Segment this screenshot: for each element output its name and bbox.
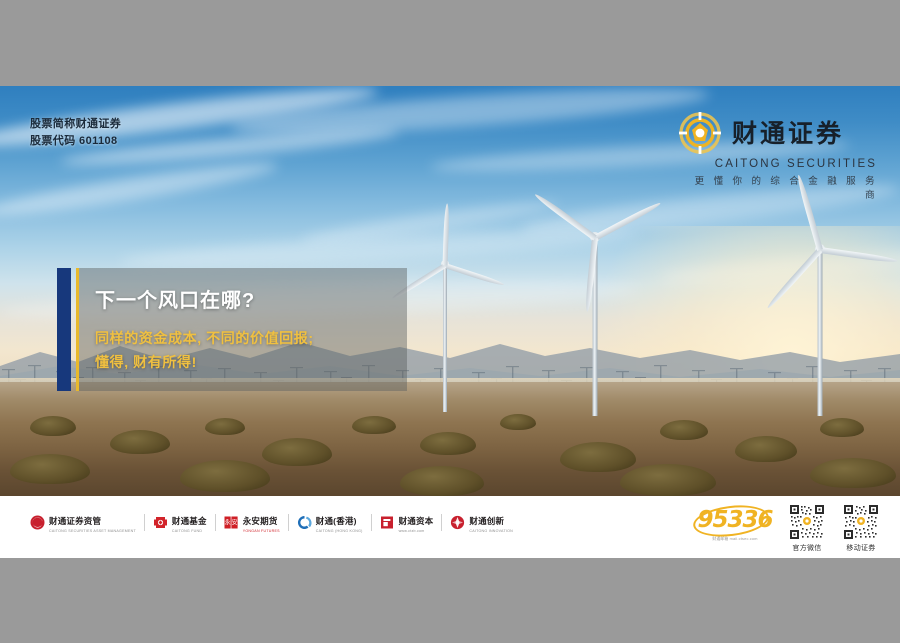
desert-bush [205,418,245,435]
brand-name-cn: 财通证券 [732,121,844,146]
partner-name-en: YONGAN FUTURES [243,530,280,534]
partner-logo: 财通(香港) CAITONG (HONG KONG) [289,512,371,534]
desert-bush [620,464,716,496]
caitong-asset-management-logo-icon [30,515,45,530]
desert-bush [500,414,536,430]
caitong-capital-logo-icon [380,515,395,530]
desert-bush [660,420,708,440]
mobile-trading-qr-code[interactable]: 移动证券 [840,504,882,553]
partner-name-en: CAITONG FUND [172,530,207,534]
caitong-fund-logo-icon [153,515,168,530]
partner-name-cn: 财通基金 [172,516,207,526]
partner-name-cn: 财通证券资管 [49,516,101,526]
partner-name-en: CAITONG (HONG KONG) [316,530,363,534]
partner-logo: 财通创新 CAITONG INNOVATION [442,512,521,534]
partner-name-cn: 财通创新 [469,516,504,526]
desert-bush [400,466,484,496]
partner-name-en: CAITONG INNOVATION [469,530,513,534]
panel-navy-accent [57,268,71,391]
partner-name-cn: 财通(香港) [316,516,357,526]
yongan-futures-logo-icon: 永 安 [224,515,239,530]
hotline-ring [692,501,771,540]
stock-info: 股票简称财通证券 股票代码 601108 [30,116,121,150]
mobile-trading-qr-label: 移动证券 [840,543,882,553]
slide-footer: 财通证券资管 CAITONG SECURITIES ASSET MANAGEME… [0,496,900,558]
stock-name-line: 股票简称财通证券 [30,116,121,133]
partner-logo-strip: 财通证券资管 CAITONG SECURITIES ASSET MANAGEME… [30,512,521,534]
caitong-emblem-icon [678,111,722,155]
wind-turbine [740,216,900,416]
desert-bush [560,442,636,472]
partner-name-en: www.ctzb.com [399,530,434,534]
wechat-qr-label: 官方微信 [786,543,828,553]
caitong-hongkong-logo-icon [297,515,312,530]
partner-name-cn: 财通资本 [399,516,434,526]
desert-bush [30,416,76,436]
headline-title: 下一个风口在哪? [95,284,255,313]
headline-panel: 下一个风口在哪? 同样的资金成本, 不同的价值回报; 懂得, 财有所得! [57,268,407,391]
desert-bush [262,438,332,466]
caitong-innovation-logo-icon [450,515,465,530]
desert-bush [735,436,797,462]
partner-logo: 财通基金 CAITONG FUND [145,512,215,534]
stock-code-line: 股票代码 601108 [30,133,121,150]
wechat-qr-code[interactable]: 官方微信 [786,504,828,553]
headline-subtitle-line2: 懂得, 财有所得! [95,350,314,374]
mobile-trading-qr-image [843,504,879,540]
svg-text:永: 永 [224,519,230,527]
hotline-number: 95336 [697,507,772,533]
partner-name-cn: 永安期货 [243,516,278,526]
brand-tagline: 更 懂 你 的 综 合 金 融 服 务 商 [678,173,878,201]
wind-turbine [520,206,670,416]
headline-subtitle-line1: 同样的资金成本, 不同的价值回报; [95,326,314,350]
desert-bush [810,458,896,488]
wechat-qr-image [789,504,825,540]
partner-logo: 永 安 永安期货 YONGAN FUTURES [216,512,288,534]
headline-subtitle: 同样的资金成本, 不同的价值回报; 懂得, 财有所得! [95,326,314,374]
partner-name-en: CAITONG SECURITIES ASSET MANAGEMENT [49,530,136,534]
hotline-subtext: 财通邮箱 mail.ctsec.com [696,537,774,542]
hotline: 95336 财通邮箱 mail.ctsec.com [696,504,774,542]
desert-bush [180,460,270,492]
svg-text:安: 安 [231,519,237,527]
wind-farm-desert-photo: 股票简称财通证券 股票代码 601108 下一个风口在哪? 同样的资金成本, 不… [0,86,900,496]
contact-block: 95336 财通邮箱 mail.ctsec.com [696,504,882,553]
brand-logo: 财通证券 CAITONG SECURITIES 更 懂 你 的 综 合 金 融 … [678,111,878,173]
presentation-slide: 股票简称财通证券 股票代码 601108 下一个风口在哪? 同样的资金成本, 不… [0,86,900,558]
desert-bush [352,416,396,434]
desert-bush [420,432,476,455]
desert-bush [820,418,864,437]
desert-bush [110,430,170,454]
partner-logo: 财通资本 www.ctzb.com [372,512,442,534]
partner-logo: 财通证券资管 CAITONG SECURITIES ASSET MANAGEME… [30,512,144,534]
brand-name-en: CAITONG SECURITIES [678,158,878,170]
desert-bush [10,454,90,484]
